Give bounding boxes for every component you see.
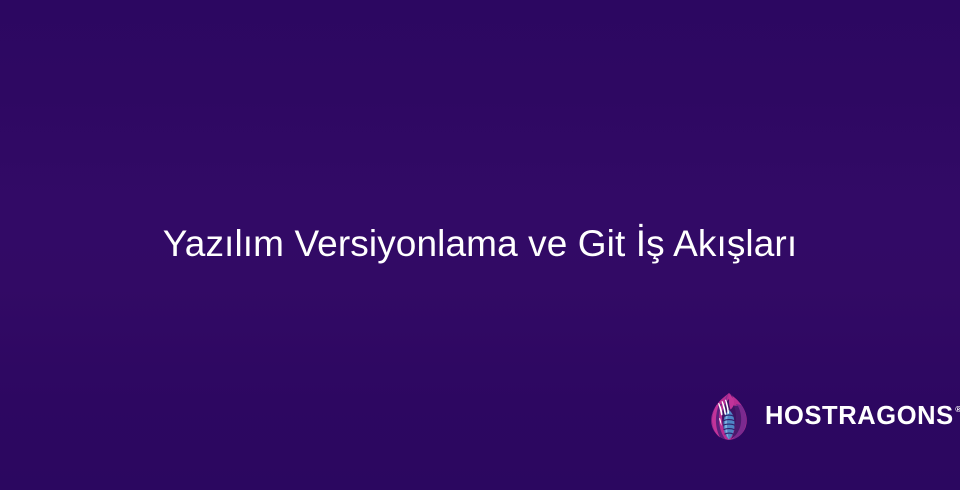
hero-banner: Yazılım Versiyonlama ve Git İş Akışları <box>0 0 960 490</box>
hostragons-logo[interactable]: HOSTRAGONS ® <box>708 391 960 441</box>
hostragons-wordmark: HOSTRAGONS ® <box>765 404 960 430</box>
wordmark-text: HOSTRAGONS <box>765 404 954 430</box>
title-block: Yazılım Versiyonlama ve Git İş Akışları <box>0 214 960 274</box>
page-title: Yazılım Versiyonlama ve Git İş Akışları <box>163 223 797 266</box>
registered-trademark-icon: ® <box>955 405 960 414</box>
hostragons-dragon-icon <box>708 392 750 441</box>
